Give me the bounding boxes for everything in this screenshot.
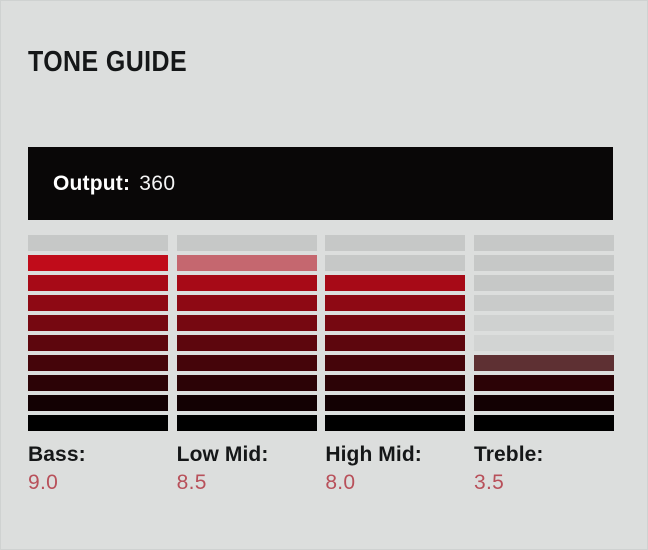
meter-segment <box>474 395 614 411</box>
meter-column-treble[interactable] <box>474 235 614 431</box>
meter-segment <box>28 355 168 371</box>
tone-label-high-mid: High Mid:8.0 <box>325 441 465 498</box>
meter-segment <box>177 335 317 351</box>
meter-segment <box>28 395 168 411</box>
meter-segment <box>28 375 168 391</box>
meter-segment <box>177 235 317 251</box>
output-label: Output: <box>53 172 130 196</box>
meter-segment <box>474 375 614 391</box>
meter-segment <box>28 315 168 331</box>
meter-segment <box>474 415 614 431</box>
page-title: TONE GUIDE <box>28 45 187 79</box>
meter-segment <box>28 275 168 291</box>
tone-label-treble: Treble:3.5 <box>474 441 614 498</box>
tone-guide-card: TONE GUIDE Output: 360 Bass:9.0Low Mid:8… <box>0 0 648 550</box>
meter-segment <box>474 275 614 291</box>
meter-segment <box>28 235 168 251</box>
tone-label-name: Treble: <box>474 441 614 468</box>
meter-segment <box>177 375 317 391</box>
meter-segment <box>474 335 614 351</box>
meter-segment <box>474 295 614 311</box>
output-bar: Output: 360 <box>28 147 613 220</box>
tone-label-low-mid: Low Mid:8.5 <box>177 441 317 498</box>
meter-segment <box>28 415 168 431</box>
meter-segment <box>177 415 317 431</box>
tone-label-bass: Bass:9.0 <box>28 441 168 498</box>
meter-segment <box>28 335 168 351</box>
meter-segment <box>325 315 465 331</box>
meter-segment <box>325 335 465 351</box>
tone-label-name: Low Mid: <box>177 441 317 468</box>
meter-segment <box>474 255 614 271</box>
meter-segment <box>325 415 465 431</box>
meter-segment <box>177 275 317 291</box>
meter-segment <box>177 355 317 371</box>
meter-segment <box>325 355 465 371</box>
meter-segment <box>325 275 465 291</box>
meter-segment <box>177 395 317 411</box>
tone-label-name: High Mid: <box>325 441 465 468</box>
output-readout: Output: 360 <box>53 172 175 196</box>
meter-segment <box>177 295 317 311</box>
meter-column-high-mid[interactable] <box>325 235 465 431</box>
meter-segment <box>325 255 465 271</box>
tone-labels-row: Bass:9.0Low Mid:8.5High Mid:8.0Treble:3.… <box>28 441 614 498</box>
meter-segment <box>177 255 317 271</box>
output-value: 360 <box>139 172 175 196</box>
meter-column-low-mid[interactable] <box>177 235 317 431</box>
meter-segment <box>28 255 168 271</box>
meter-segment <box>325 395 465 411</box>
tone-label-value: 3.5 <box>474 468 614 498</box>
meter-segment <box>325 375 465 391</box>
tone-label-value: 9.0 <box>28 468 168 498</box>
meter-segment <box>474 235 614 251</box>
tone-label-name: Bass: <box>28 441 168 468</box>
meter-segment <box>325 235 465 251</box>
meter-segment <box>28 295 168 311</box>
tone-label-value: 8.5 <box>177 468 317 498</box>
meter-column-bass[interactable] <box>28 235 168 431</box>
meter-segment <box>474 315 614 331</box>
tone-meter <box>28 235 614 431</box>
tone-label-value: 8.0 <box>325 468 465 498</box>
meter-segment <box>325 295 465 311</box>
meter-segment <box>474 355 614 371</box>
meter-segment <box>177 315 317 331</box>
